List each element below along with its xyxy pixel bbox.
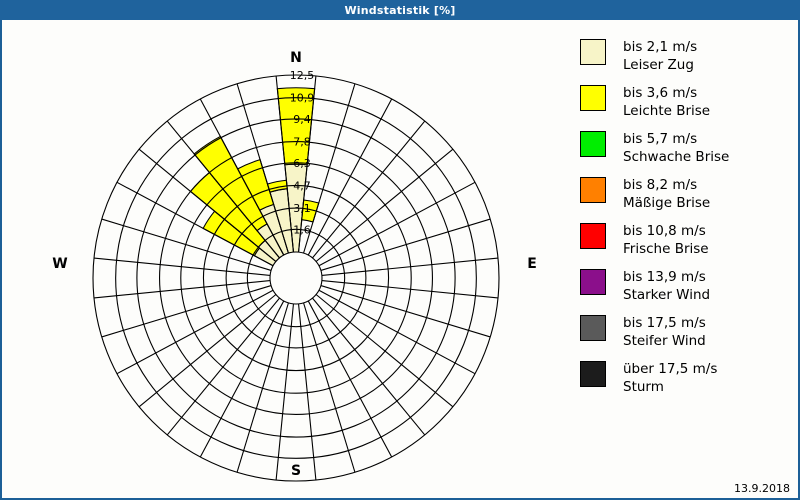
legend-label: bis 17,5 m/s Steifer Wind	[623, 314, 706, 350]
radial-tick-label: 7,8	[293, 136, 311, 149]
list-item: bis 13,9 m/s Starker Wind	[580, 268, 798, 308]
radial-tick-label: 1,6	[293, 223, 311, 236]
legend-name: Leiser Zug	[623, 56, 697, 74]
legend-swatch-icon	[580, 361, 606, 387]
footer-date: 13.9.2018	[734, 482, 790, 495]
list-item: über 17,5 m/s Sturm	[580, 360, 798, 400]
windstatistik-window: Windstatistik [%] 1,63,14,76,37,89,410,9…	[0, 0, 800, 500]
list-item: bis 5,7 m/s Schwache Brise	[580, 130, 798, 170]
legend-speed: bis 2,1 m/s	[623, 38, 697, 56]
legend-name: Schwache Brise	[623, 148, 729, 166]
list-item: bis 2,1 m/s Leiser Zug	[580, 38, 798, 78]
radial-tick-label: 4,7	[293, 179, 311, 192]
legend-label: bis 13,9 m/s Starker Wind	[623, 268, 710, 304]
list-item: bis 3,6 m/s Leichte Brise	[580, 84, 798, 124]
legend-speed: bis 5,7 m/s	[623, 130, 729, 148]
compass-label-south: S	[291, 463, 301, 479]
list-item: bis 10,8 m/s Frische Brise	[580, 222, 798, 262]
legend-label: über 17,5 m/s Sturm	[623, 360, 717, 396]
wind-rose-svg: 1,63,14,76,37,89,410,912,5 N E S W	[2, 20, 562, 490]
legend-name: Frische Brise	[623, 240, 709, 258]
legend-speed: bis 3,6 m/s	[623, 84, 710, 102]
list-item: bis 17,5 m/s Steifer Wind	[580, 314, 798, 354]
legend-name: Sturm	[623, 378, 717, 396]
radial-tick-label: 10,9	[290, 92, 315, 105]
legend-swatch-icon	[580, 85, 606, 111]
legend-speed: bis 8,2 m/s	[623, 176, 710, 194]
radial-tick-label: 3,1	[293, 202, 311, 215]
list-item: bis 8,2 m/s Mäßige Brise	[580, 176, 798, 216]
compass-label-north: N	[290, 50, 302, 66]
legend-name: Leichte Brise	[623, 102, 710, 120]
legend-swatch-icon	[580, 315, 606, 341]
legend-name: Steifer Wind	[623, 332, 706, 350]
legend-label: bis 2,1 m/s Leiser Zug	[623, 38, 697, 74]
window-title: Windstatistik [%]	[344, 4, 455, 17]
legend-swatch-icon	[580, 177, 606, 203]
legend-speed: bis 13,9 m/s	[623, 268, 710, 286]
window-title-bar: Windstatistik [%]	[0, 0, 800, 20]
legend-swatch-icon	[580, 131, 606, 157]
legend-swatch-icon	[580, 39, 606, 65]
legend-name: Mäßige Brise	[623, 194, 710, 212]
legend: bis 2,1 m/s Leiser Zug bis 3,6 m/s Leich…	[580, 38, 798, 406]
radial-tick-label: 9,4	[293, 113, 311, 126]
legend-label: bis 8,2 m/s Mäßige Brise	[623, 176, 710, 212]
legend-speed: bis 17,5 m/s	[623, 314, 706, 332]
legend-speed: über 17,5 m/s	[623, 360, 717, 378]
legend-label: bis 10,8 m/s Frische Brise	[623, 222, 709, 258]
legend-label: bis 3,6 m/s Leichte Brise	[623, 84, 710, 120]
legend-swatch-icon	[580, 223, 606, 249]
legend-swatch-icon	[580, 269, 606, 295]
radial-tick-label: 6,3	[293, 157, 311, 170]
compass-label-west: W	[52, 256, 67, 272]
compass-label-east: E	[527, 256, 537, 272]
legend-name: Starker Wind	[623, 286, 710, 304]
legend-speed: bis 10,8 m/s	[623, 222, 709, 240]
radial-tick-label: 12,5	[290, 69, 315, 82]
legend-label: bis 5,7 m/s Schwache Brise	[623, 130, 729, 166]
